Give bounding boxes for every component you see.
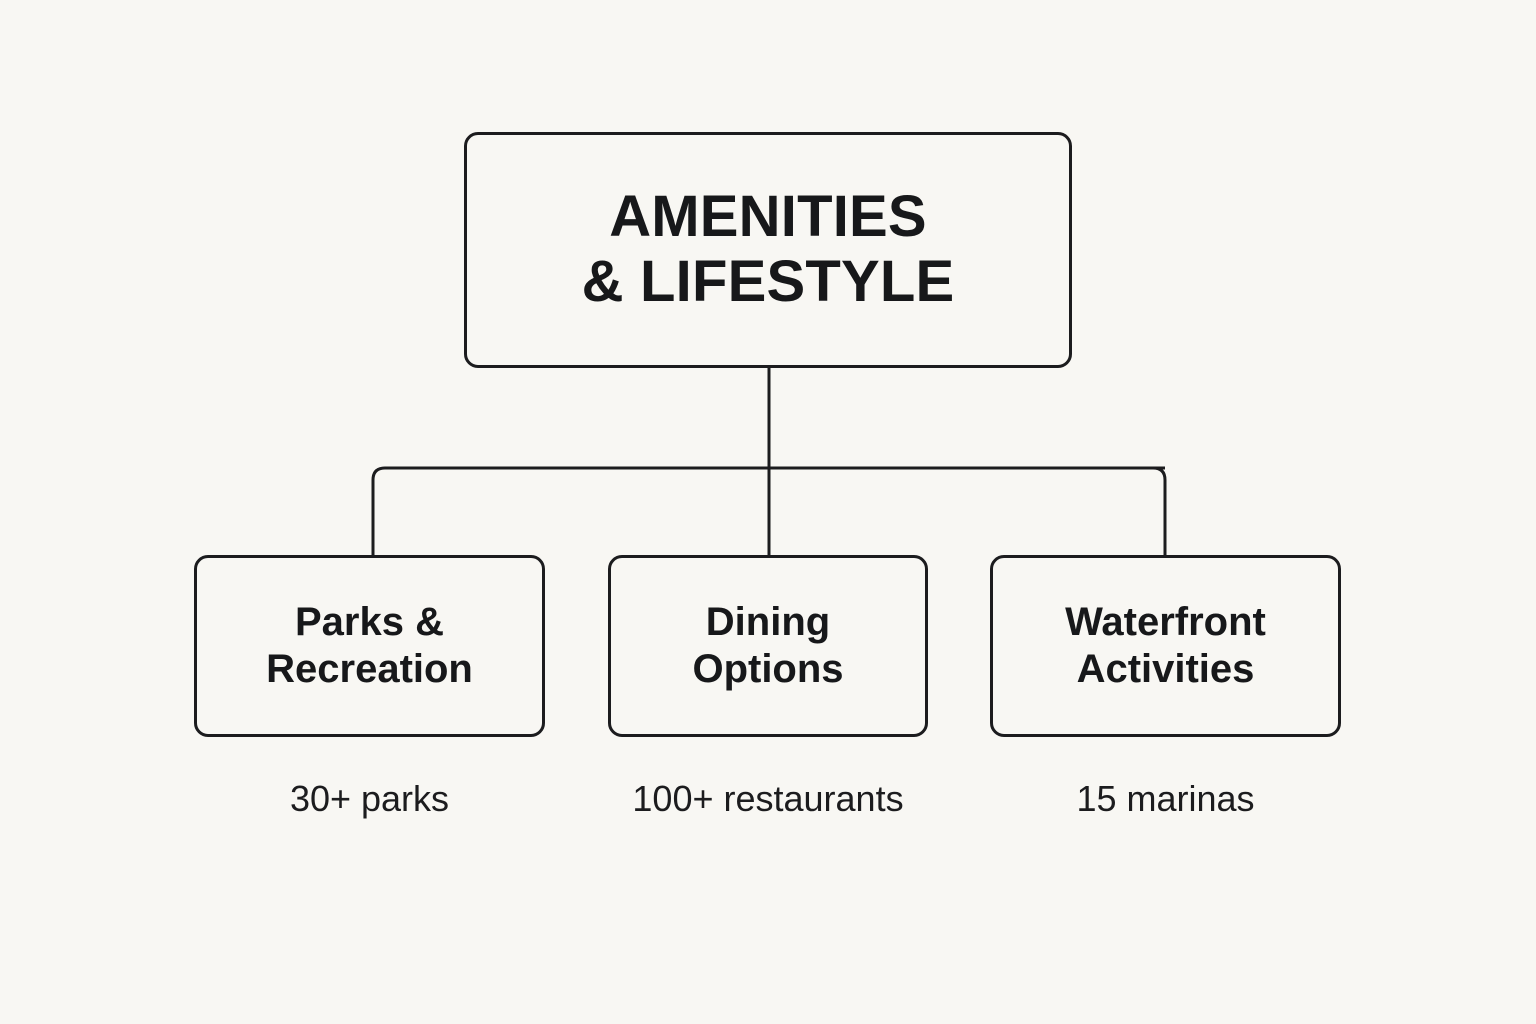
node-parks-recreation-label-line1: Parks & [295, 600, 444, 644]
caption-parks-recreation: 30+ parks [194, 773, 545, 824]
node-dining-options-label-line2: Options [692, 647, 843, 691]
node-parks-recreation-label-line2: Recreation [266, 647, 473, 691]
node-dining-options[interactable]: Dining Options [608, 555, 928, 737]
connector-right-branch [769, 468, 1165, 555]
caption-dining-options: 100+ restaurants [608, 773, 928, 824]
node-dining-options-label: Dining Options [676, 599, 859, 693]
node-root-label-line2: & LIFESTYLE [582, 249, 955, 314]
node-parks-recreation-label: Parks & Recreation [250, 599, 489, 693]
caption-waterfront-activities: 15 marinas [990, 773, 1341, 824]
node-waterfront-activities-label-line1: Waterfront [1065, 600, 1266, 644]
node-parks-recreation[interactable]: Parks & Recreation [194, 555, 545, 737]
node-root-label-line1: AMENITIES [609, 184, 927, 249]
diagram-canvas: AMENITIES & LIFESTYLE Parks & Recreation… [0, 0, 1536, 1024]
connector-left-branch [373, 468, 1165, 555]
node-waterfront-activities[interactable]: Waterfront Activities [990, 555, 1341, 737]
node-waterfront-activities-label-line2: Activities [1077, 647, 1255, 691]
node-waterfront-activities-label: Waterfront Activities [1049, 599, 1282, 693]
node-root-label: AMENITIES & LIFESTYLE [560, 185, 977, 315]
node-dining-options-label-line1: Dining [706, 600, 830, 644]
node-root[interactable]: AMENITIES & LIFESTYLE [464, 132, 1072, 368]
